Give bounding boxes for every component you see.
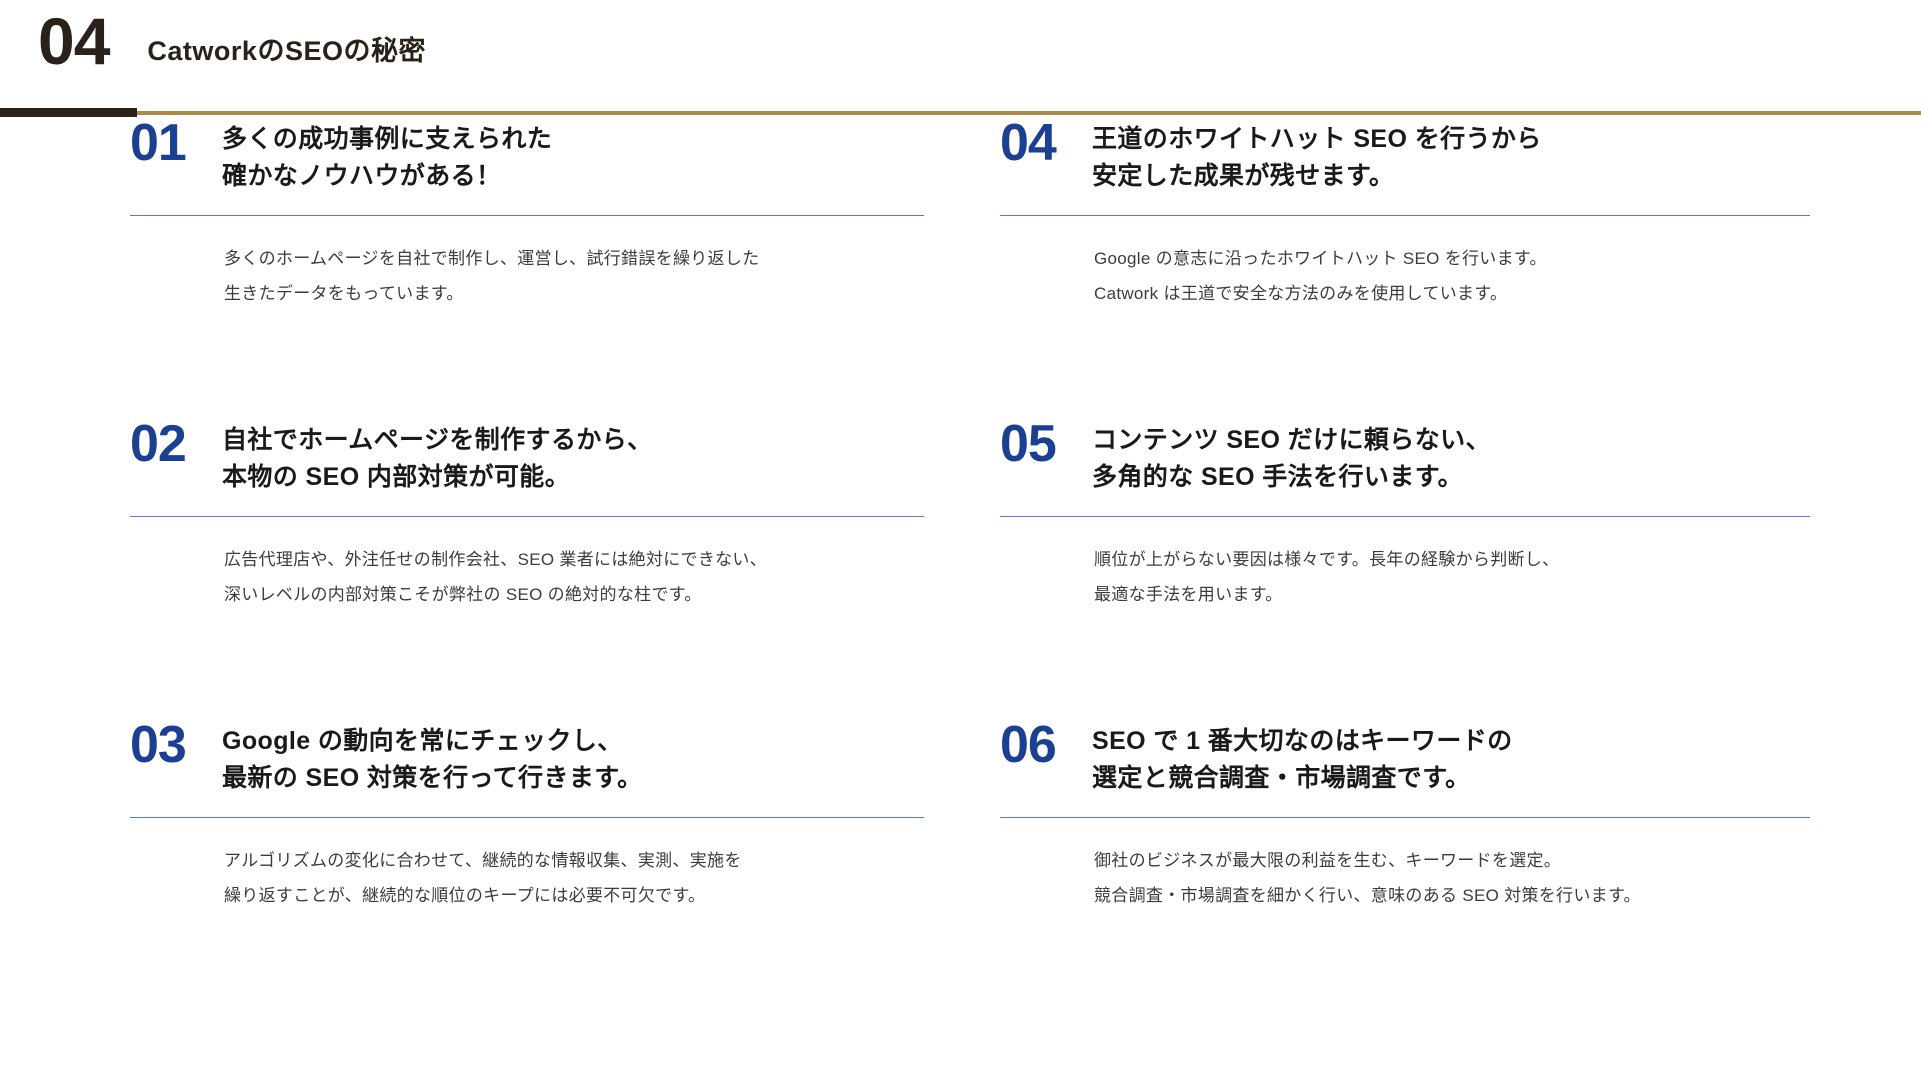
card-number: 03 (130, 720, 222, 771)
card-divider (1000, 215, 1810, 216)
card-header: 01 多くの成功事例に支えられた 確かなノウハウがある！ (130, 118, 950, 195)
card-divider (130, 817, 924, 818)
feature-card-05: 05 コンテンツ SEO だけに頼らない、 多角的な SEO 手法を行います。 … (1000, 419, 1820, 720)
card-body-line: 広告代理店や、外注任せの制作会社、SEO 業者には絶対にできない、 (224, 543, 950, 578)
card-title: 自社でホームページを制作するから、 本物の SEO 内部対策が可能。 (222, 419, 653, 496)
card-title-line: 最新の SEO 対策を行って行きます。 (222, 760, 643, 797)
card-divider (130, 215, 924, 216)
card-title-line: Google の動向を常にチェックし、 (222, 723, 643, 760)
card-header: 02 自社でホームページを制作するから、 本物の SEO 内部対策が可能。 (130, 419, 950, 496)
card-body-line: 多くのホームページを自社で制作し、運営し、試行錯誤を繰り返した (224, 242, 950, 277)
page-title: CatworkのSEOの秘密 (147, 38, 426, 74)
header-divider (0, 108, 1921, 118)
card-body-line: 競合調査・市場調査を細かく行い、意味のある SEO 対策を行います。 (1094, 879, 1820, 914)
section-number: 04 (38, 8, 109, 74)
slide-root: 04 CatworkのSEOの秘密 01 多くの成功事例に支えられた 確かなノウ… (0, 0, 1921, 1081)
card-body: 順位が上がらない要因は様々です。長年の経験から判断し、 最適な手法を用います。 (1094, 543, 1820, 613)
card-number: 04 (1000, 118, 1092, 169)
card-body: 御社のビジネスが最大限の利益を生む、キーワードを選定。 競合調査・市場調査を細か… (1094, 844, 1820, 914)
card-title-line: 選定と競合調査・市場調査です。 (1092, 760, 1513, 797)
card-header: 06 SEO で 1 番大切なのはキーワードの 選定と競合調査・市場調査です。 (1000, 720, 1820, 797)
card-body: 多くのホームページを自社で制作し、運営し、試行錯誤を繰り返した 生きたデータをも… (224, 242, 950, 312)
card-title: 多くの成功事例に支えられた 確かなノウハウがある！ (222, 118, 552, 195)
card-divider (1000, 817, 1810, 818)
card-body-line: Google の意志に沿ったホワイトハット SEO を行います。 (1094, 242, 1820, 277)
card-body-line: 深いレベルの内部対策こそが弊社の SEO の絶対的な柱です。 (224, 578, 950, 613)
card-header: 04 王道のホワイトハット SEO を行うから 安定した成果が残せます。 (1000, 118, 1820, 195)
card-body-line: 生きたデータをもっています。 (224, 277, 950, 312)
cards-column-left: 01 多くの成功事例に支えられた 確かなノウハウがある！ 多くのホームページを自… (130, 118, 950, 1021)
card-divider (130, 516, 924, 517)
card-title-line: 安定した成果が残せます。 (1092, 158, 1542, 195)
card-title-line: 自社でホームページを制作するから、 (222, 422, 653, 459)
card-body-line: 順位が上がらない要因は様々です。長年の経験から判断し、 (1094, 543, 1820, 578)
card-title-line: 本物の SEO 内部対策が可能。 (222, 459, 653, 496)
feature-card-04: 04 王道のホワイトハット SEO を行うから 安定した成果が残せます。 Goo… (1000, 118, 1820, 419)
card-body-line: 最適な手法を用います。 (1094, 578, 1820, 613)
card-title: 王道のホワイトハット SEO を行うから 安定した成果が残せます。 (1092, 118, 1542, 195)
card-header: 03 Google の動向を常にチェックし、 最新の SEO 対策を行って行きま… (130, 720, 950, 797)
card-title-line: コンテンツ SEO だけに頼らない、 (1092, 422, 1491, 459)
card-number: 02 (130, 419, 222, 470)
card-body: Google の意志に沿ったホワイトハット SEO を行います。 Catwork… (1094, 242, 1820, 312)
feature-card-03: 03 Google の動向を常にチェックし、 最新の SEO 対策を行って行きま… (130, 720, 950, 1021)
card-divider (1000, 516, 1810, 517)
card-number: 05 (1000, 419, 1092, 470)
header-inner: 04 CatworkのSEOの秘密 (38, 8, 426, 74)
feature-card-06: 06 SEO で 1 番大切なのはキーワードの 選定と競合調査・市場調査です。 … (1000, 720, 1820, 1021)
card-body-line: Catwork は王道で安全な方法のみを使用しています。 (1094, 277, 1820, 312)
card-title: Google の動向を常にチェックし、 最新の SEO 対策を行って行きます。 (222, 720, 643, 797)
cards-grid: 01 多くの成功事例に支えられた 確かなノウハウがある！ 多くのホームページを自… (0, 118, 1921, 1081)
card-body: アルゴリズムの変化に合わせて、継続的な情報収集、実測、実施を 繰り返すことが、継… (224, 844, 950, 914)
card-number: 01 (130, 118, 222, 169)
card-title: コンテンツ SEO だけに頼らない、 多角的な SEO 手法を行います。 (1092, 419, 1491, 496)
card-title-line: 王道のホワイトハット SEO を行うから (1092, 121, 1542, 158)
card-body: 広告代理店や、外注任せの制作会社、SEO 業者には絶対にできない、 深いレベルの… (224, 543, 950, 613)
card-header: 05 コンテンツ SEO だけに頼らない、 多角的な SEO 手法を行います。 (1000, 419, 1820, 496)
card-title: SEO で 1 番大切なのはキーワードの 選定と競合調査・市場調査です。 (1092, 720, 1513, 797)
slide-header: 04 CatworkのSEOの秘密 (0, 0, 1921, 118)
card-title-line: SEO で 1 番大切なのはキーワードの (1092, 723, 1513, 760)
card-body-line: 繰り返すことが、継続的な順位のキープには必要不可欠です。 (224, 879, 950, 914)
card-number: 06 (1000, 720, 1092, 771)
card-body-line: アルゴリズムの変化に合わせて、継続的な情報収集、実測、実施を (224, 844, 950, 879)
header-divider-dark-segment (0, 108, 137, 117)
card-title-line: 確かなノウハウがある！ (222, 158, 552, 195)
card-title-line: 多くの成功事例に支えられた (222, 121, 552, 158)
feature-card-01: 01 多くの成功事例に支えられた 確かなノウハウがある！ 多くのホームページを自… (130, 118, 950, 419)
feature-card-02: 02 自社でホームページを制作するから、 本物の SEO 内部対策が可能。 広告… (130, 419, 950, 720)
card-body-line: 御社のビジネスが最大限の利益を生む、キーワードを選定。 (1094, 844, 1820, 879)
cards-column-right: 04 王道のホワイトハット SEO を行うから 安定した成果が残せます。 Goo… (1000, 118, 1820, 1021)
card-title-line: 多角的な SEO 手法を行います。 (1092, 459, 1491, 496)
